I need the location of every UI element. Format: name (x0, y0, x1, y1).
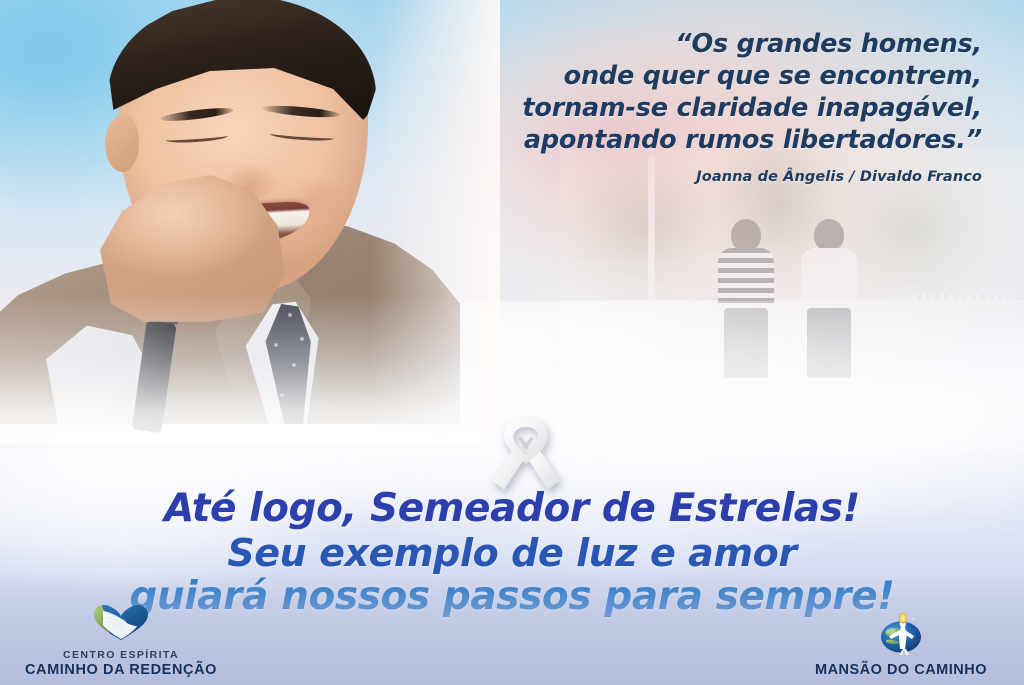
quote-block: “Os grandes homens, onde quer que se enc… (422, 28, 982, 185)
logo-mansao-do-caminho[interactable]: MANSÃO DO CAMINHO (786, 613, 1016, 679)
quote-line-2: onde quer que se encontrem, (422, 60, 982, 92)
quote-attribution: Joanna de Ângelis / Divaldo Franco (422, 169, 982, 185)
memorial-poster: “Os grandes homens, onde quer que se enc… (0, 0, 1024, 685)
tribute-line-1: Até logo, Semeador de Estrelas! (0, 487, 1024, 531)
quote-line-4: apontando rumos libertadores.” (422, 124, 982, 156)
figure-torso (718, 248, 774, 308)
globe-figure-icon (786, 613, 1016, 660)
figure-head (814, 219, 844, 251)
portrait-ear (105, 114, 139, 172)
figure-head (731, 219, 761, 251)
mourning-ribbon-icon (488, 410, 564, 492)
figure-torso (801, 248, 857, 308)
heart-hands-icon (6, 602, 236, 647)
logo-centro-espirita[interactable]: CENTRO ESPÍRITA CAMINHO DA REDENÇÃO (6, 602, 236, 679)
microphone-body (132, 320, 177, 433)
quote-line-1: “Os grandes homens, (422, 28, 982, 60)
logo-left-line-1: CENTRO ESPÍRITA (6, 649, 236, 662)
portrait-photo (0, 0, 470, 424)
quote-line-3: tornam-se claridade inapagável, (422, 92, 982, 124)
logo-right-line-1: MANSÃO DO CAMINHO (786, 662, 1016, 679)
tribute-line-2: Seu exemplo de luz e amor (0, 531, 1024, 575)
logo-left-line-2: CAMINHO DA REDENÇÃO (6, 662, 236, 679)
